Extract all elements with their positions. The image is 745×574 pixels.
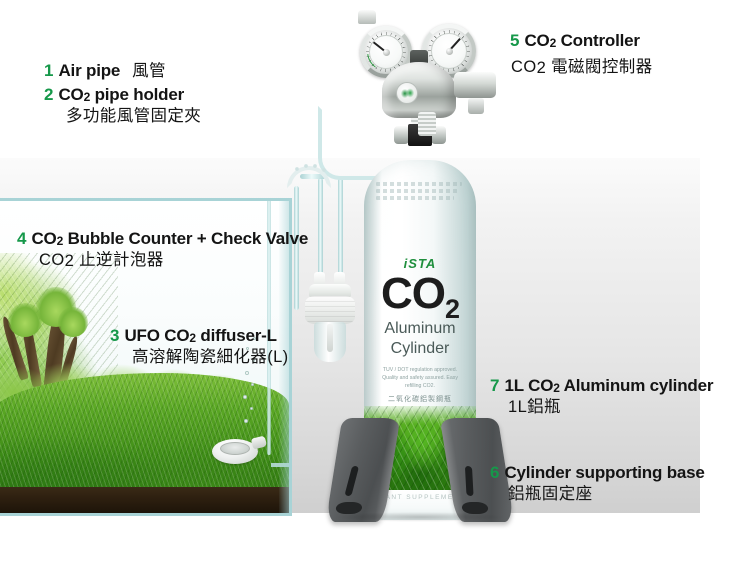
callout-4-chinese-post: 止逆計泡器 xyxy=(74,251,163,269)
bubble xyxy=(244,419,248,423)
moss-tuft xyxy=(58,307,88,337)
callout-5-english-post: Controller xyxy=(556,31,640,50)
cylinder-co2-text: CO xyxy=(381,269,445,318)
callout-2-line2: 多功能風管固定夾 xyxy=(44,106,201,127)
callout-aluminum-cylinder: 71L CO2 Aluminum cylinder 1L鋁瓶 xyxy=(490,375,713,419)
callout-5-english-pre: CO xyxy=(524,31,549,50)
cylinder-fine-print: TUV / DOT regulation approved. Quality a… xyxy=(378,366,462,390)
callout-6-chinese: 鋁瓶固定座 xyxy=(508,485,593,503)
bubble xyxy=(243,395,247,399)
callout-4-line1: 4CO2 Bubble Counter + Check Valve xyxy=(17,228,308,250)
cylinder-co2-title: CO2 xyxy=(364,272,476,323)
co2-bubble-counter-check-valve xyxy=(303,272,357,362)
callout-5-english-sub: 2 xyxy=(550,36,556,50)
callout-5-line1: 5CO2 Controller xyxy=(510,30,653,52)
cylinder-engraving xyxy=(376,182,464,212)
callout-4-chinese-pre: CO xyxy=(39,251,65,269)
callout-co2-controller: 5CO2 Controller CO2 電磁閥控制器 xyxy=(510,30,653,79)
callout-bubble-counter: 4CO2 Bubble Counter + Check Valve CO2 止逆… xyxy=(17,228,308,272)
foot-highlight xyxy=(374,418,400,522)
diffuser-ceramic-disc xyxy=(220,442,250,455)
regulator-adjust-knob[interactable] xyxy=(358,10,376,24)
callout-5-line2: CO2 電磁閥控制器 xyxy=(510,57,653,78)
callout-7-number: 7 xyxy=(490,376,499,395)
engraving-line xyxy=(376,182,462,186)
callout-2-line1: 2CO2 pipe holder xyxy=(44,84,201,106)
callout-4-number: 4 xyxy=(17,229,26,248)
callout-5-chinese-pre: CO xyxy=(511,58,537,76)
bubble-counter-body xyxy=(305,296,355,324)
bubble xyxy=(245,371,249,375)
bubble xyxy=(250,407,253,410)
callout-supporting-base: 6Cylinder supporting base 鋁瓶固定座 xyxy=(490,462,705,506)
callout-4-english-pre: CO xyxy=(31,229,56,248)
ufo-co2-diffuser xyxy=(212,435,266,465)
callout-7-chinese: 1L鋁瓶 xyxy=(508,398,561,416)
co2-pipe-holder-clip xyxy=(287,162,331,198)
callout-7-line1: 71L CO2 Aluminum cylinder xyxy=(490,375,713,397)
callout-3-line2: 高溶解陶瓷細化器(L) xyxy=(110,347,289,368)
base-shadow xyxy=(336,512,504,522)
regulator-body xyxy=(382,62,456,118)
engraving-line xyxy=(376,196,454,200)
foot-highlight xyxy=(440,418,466,522)
callout-1-number: 1 xyxy=(44,61,53,80)
callout-3-line1: 3UFO CO2 diffuser-L xyxy=(110,325,289,347)
callout-3-english-sub: 2 xyxy=(189,331,195,345)
callout-3-english-post: diffuser-L xyxy=(196,326,277,345)
cylinder-subtitle-aluminum: Aluminum xyxy=(364,320,476,338)
callout-4-english-post: Bubble Counter + Check Valve xyxy=(63,229,308,248)
callout-2-chinese: 多功能風管固定夾 xyxy=(66,107,201,125)
bubble xyxy=(251,383,254,386)
callout-5-chinese-sub: 2 xyxy=(537,59,547,77)
callout-4-chinese-sub: 2 xyxy=(65,252,75,270)
callout-2-english-pre: CO xyxy=(58,85,83,104)
callout-air-pipe: 1Air pipe風管 xyxy=(44,60,166,82)
callout-7-line2: 1L鋁瓶 xyxy=(490,397,713,418)
callout-2-number: 2 xyxy=(44,85,53,104)
callout-3-english-pre: UFO CO xyxy=(124,326,189,345)
product-diagram: iSTA CO2 Aluminum Cylinder TUV / DOT reg… xyxy=(0,0,745,574)
regulator-inlet-stem xyxy=(418,112,436,136)
callout-6-english: Cylinder supporting base xyxy=(504,463,704,482)
gauge-hub xyxy=(383,49,390,56)
callout-2-english-sub: 2 xyxy=(84,90,90,104)
callout-7-english-post: Aluminum cylinder xyxy=(560,376,714,395)
callout-3-number: 3 xyxy=(110,326,119,345)
callout-5-number: 5 xyxy=(510,31,519,50)
callout-4-english-sub: 2 xyxy=(57,234,63,248)
engraving-line xyxy=(376,189,458,193)
base-foot-left xyxy=(326,418,400,522)
callout-ufo-diffuser: 3UFO CO2 diffuser-L 高溶解陶瓷細化器(L) xyxy=(110,325,289,369)
callout-6-line1: 6Cylinder supporting base xyxy=(490,462,705,484)
co2-pipe-vertical-2 xyxy=(338,178,343,278)
diffuser-inlet-nozzle xyxy=(251,435,267,449)
callout-5-chinese-post: 電磁閥控制器 xyxy=(546,58,652,76)
callout-co2-pipe-holder: 2CO2 pipe holder 多功能風管固定夾 xyxy=(44,84,201,128)
cylinder-chinese-note: 二氧化碳鋁製鋼瓶 xyxy=(364,394,476,404)
callout-7-english-sub: 2 xyxy=(553,381,559,395)
callout-3-chinese: 高溶解陶瓷細化器(L) xyxy=(132,348,289,366)
callout-2-english-post: pipe holder xyxy=(90,85,184,104)
clip-pipe-holes xyxy=(291,162,329,175)
callout-1-chinese: 風管 xyxy=(132,62,166,80)
regulator-outlet-nipple[interactable] xyxy=(468,98,484,114)
cylinder-subtitle-cylinder: Cylinder xyxy=(364,340,476,358)
gauge-hub xyxy=(446,48,453,55)
callout-1-english: Air pipe xyxy=(58,61,120,80)
bubble-counter-needle xyxy=(327,324,333,352)
regulator-brand-badge xyxy=(396,82,418,104)
callout-4-line2: CO2 止逆計泡器 xyxy=(17,250,308,271)
callout-6-line2: 鋁瓶固定座 xyxy=(490,484,705,505)
callout-1-line1: 1Air pipe風管 xyxy=(44,60,166,82)
callout-6-number: 6 xyxy=(490,463,499,482)
co2-controller-regulator xyxy=(356,6,498,134)
callout-7-english-pre: 1L CO xyxy=(504,376,553,395)
moss-tuft xyxy=(8,303,42,337)
regulator-outlet-valve[interactable] xyxy=(454,72,496,98)
substrate-soil xyxy=(0,487,289,513)
